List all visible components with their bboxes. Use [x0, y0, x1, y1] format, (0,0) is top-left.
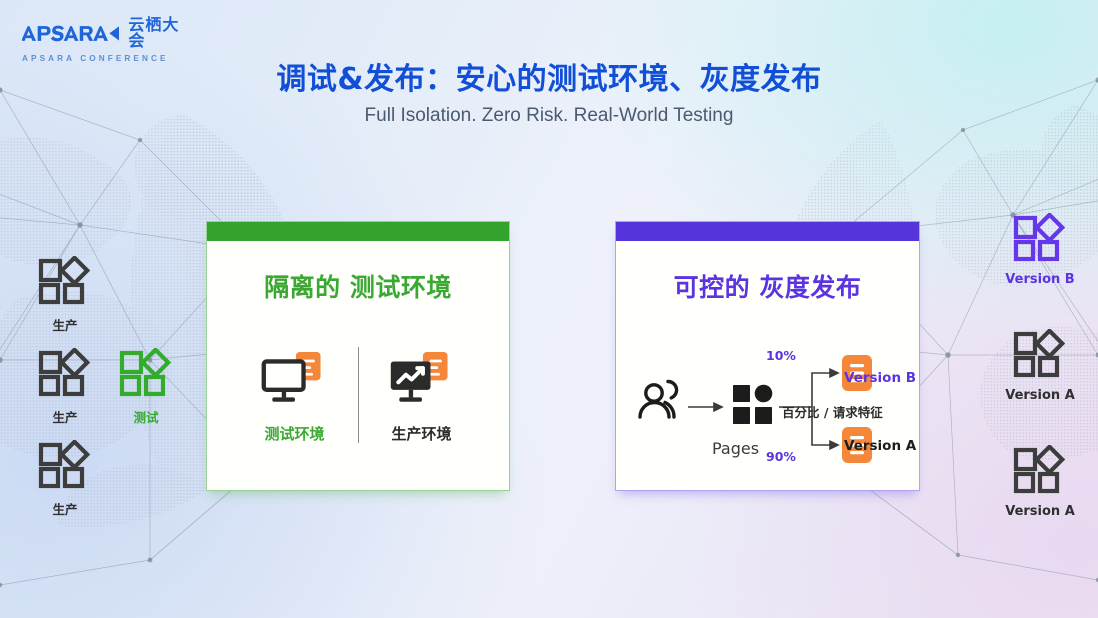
badge-right-version-a-2: Version A: [992, 445, 1088, 519]
app-blocks-icon: [1012, 213, 1068, 263]
app-blocks-icon: [37, 256, 93, 306]
env-label-test: 测试环境: [232, 423, 358, 444]
badge-left-test: 测试: [98, 348, 194, 426]
app-blocks-icon: [37, 440, 93, 490]
split-criteria-label: 百分比 / 请求特征: [782, 402, 883, 421]
env-item-production: 生产环境: [359, 345, 485, 444]
card-controlled-gray-release: 可控的 灰度发布: [615, 221, 920, 491]
badge-label: 生产: [17, 499, 113, 518]
badge-label: Version A: [992, 388, 1088, 403]
users-icon: [640, 381, 677, 417]
environment-comparison-row: 测试环境: [207, 345, 509, 444]
badge-label: 生产: [17, 315, 113, 334]
badge-label: Version B: [992, 272, 1088, 287]
card-accent-bar-purple: [616, 222, 919, 241]
badge-left-production-3: 生产: [17, 440, 113, 518]
badge-left-production-1: 生产: [17, 256, 113, 334]
badge-right-version-a-1: Version A: [992, 329, 1088, 403]
page-title: 调试&发布：安心的测试环境、灰度发布: [0, 54, 1098, 98]
page-subtitle: Full Isolation. Zero Risk. Real-World Te…: [0, 105, 1098, 127]
app-blocks-icon: [1012, 329, 1068, 379]
branch-target-b: Version B: [844, 370, 916, 386]
pages-label: Pages: [712, 439, 759, 458]
badge-label: Version A: [992, 504, 1088, 519]
card-title-gray-release: 可控的 灰度发布: [616, 268, 919, 304]
monitor-chart-icon: [359, 345, 485, 411]
branch-percent-b: 10%: [766, 348, 796, 363]
badge-label: 测试: [98, 407, 194, 426]
branch-percent-a: 90%: [766, 449, 796, 464]
gray-release-flow-diagram: Pages 10% 90% 百分比 / 请求特征 Version B Versi…: [616, 351, 919, 481]
apsara-wordmark-icon: [22, 23, 119, 44]
env-label-production: 生产环境: [359, 423, 485, 444]
card-accent-bar-green: [207, 222, 509, 241]
monitor-outline-icon: [232, 345, 358, 411]
app-blocks-icon: [118, 348, 174, 398]
app-blocks-icon: [1012, 445, 1068, 495]
badge-right-version-b: Version B: [992, 213, 1088, 287]
env-item-test: 测试环境: [232, 345, 358, 444]
card-isolated-test-env: 隔离的 测试环境 测试环境: [206, 221, 510, 491]
branch-target-a: Version A: [844, 438, 916, 454]
pages-grid-icon: [733, 385, 772, 424]
app-blocks-icon: [37, 348, 93, 398]
slide: 云栖大会 APSARA CONFERENCE 调试&发布：安心的测试环境、灰度发…: [0, 0, 1098, 618]
logo-chinese-text: 云栖大会: [128, 17, 192, 49]
card-title-isolated: 隔离的 测试环境: [207, 268, 509, 304]
